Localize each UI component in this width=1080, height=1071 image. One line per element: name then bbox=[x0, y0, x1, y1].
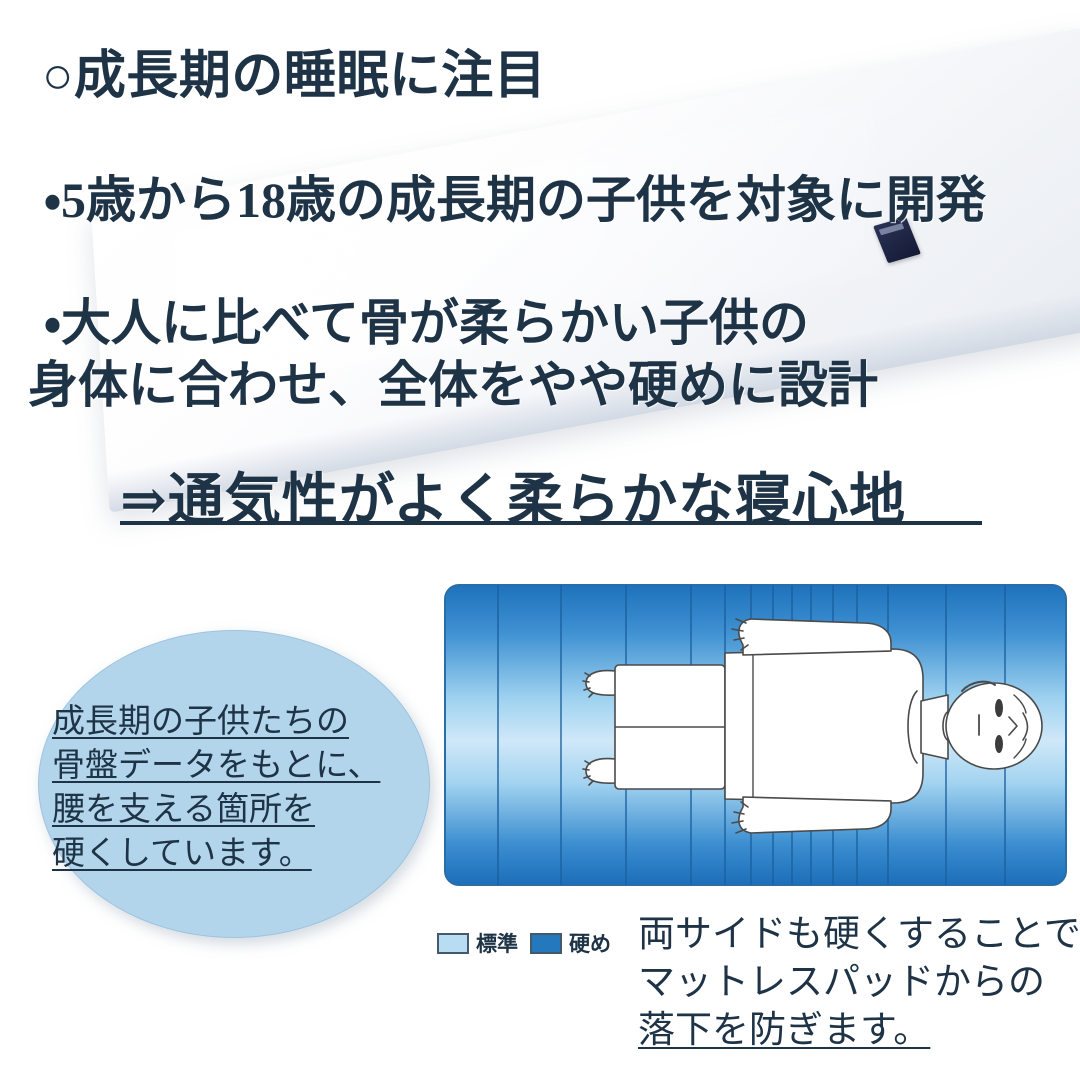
callout-text: 成長期の子供たちの 骨盤データをもとに、 腰を支える箇所を 硬くしています。 bbox=[52, 700, 412, 876]
bottom-caption: 両サイドも硬くすることで マットレスパッドからの 落下を防ぎます。 bbox=[638, 911, 1080, 1055]
legend-entry-standard: 標準 bbox=[437, 928, 518, 958]
legend-entry-firm: 硬め bbox=[530, 928, 611, 958]
bullet-item-2-line-2: 身体に合わせ、全体をやや硬めに設計 bbox=[28, 345, 878, 417]
arm-upper bbox=[739, 619, 891, 655]
legend: 標準 硬め bbox=[437, 928, 611, 958]
callout-line-2: 骨盤データをもとに、 bbox=[52, 744, 412, 788]
mattress-diagram-svg bbox=[443, 583, 1068, 903]
caption-line-2: マットレスパッドからの bbox=[638, 959, 1080, 1007]
mattress-diagram bbox=[443, 583, 1068, 903]
torso-shirt bbox=[725, 649, 923, 803]
legend-swatch-standard-icon bbox=[437, 933, 469, 954]
legend-label-firm: 硬め bbox=[569, 928, 611, 958]
slide-root: ○成長期の睡眠に注目 ・5歳から18歳の成長期の子供を対象に開発 ・大人に比べて… bbox=[0, 0, 1080, 1071]
caption-line-3: 落下を防ぎます。 bbox=[638, 1007, 1080, 1055]
bullet-item-1: ・5歳から18歳の成長期の子供を対象に開発 bbox=[44, 160, 986, 232]
neck bbox=[921, 695, 948, 759]
arm-lower bbox=[739, 797, 891, 833]
callout-line-1: 成長期の子供たちの bbox=[52, 700, 412, 744]
legend-swatch-firm-icon bbox=[530, 933, 562, 954]
caption-line-1: 両サイドも硬くすることで bbox=[638, 911, 1080, 959]
callout-line-4: 硬くしています。 bbox=[52, 832, 412, 876]
legend-label-standard: 標準 bbox=[476, 928, 518, 958]
page-title: ○成長期の睡眠に注目 bbox=[42, 33, 546, 108]
callout-line-3: 腰を支える箇所を bbox=[52, 788, 412, 832]
conclusion-underline bbox=[120, 521, 982, 525]
